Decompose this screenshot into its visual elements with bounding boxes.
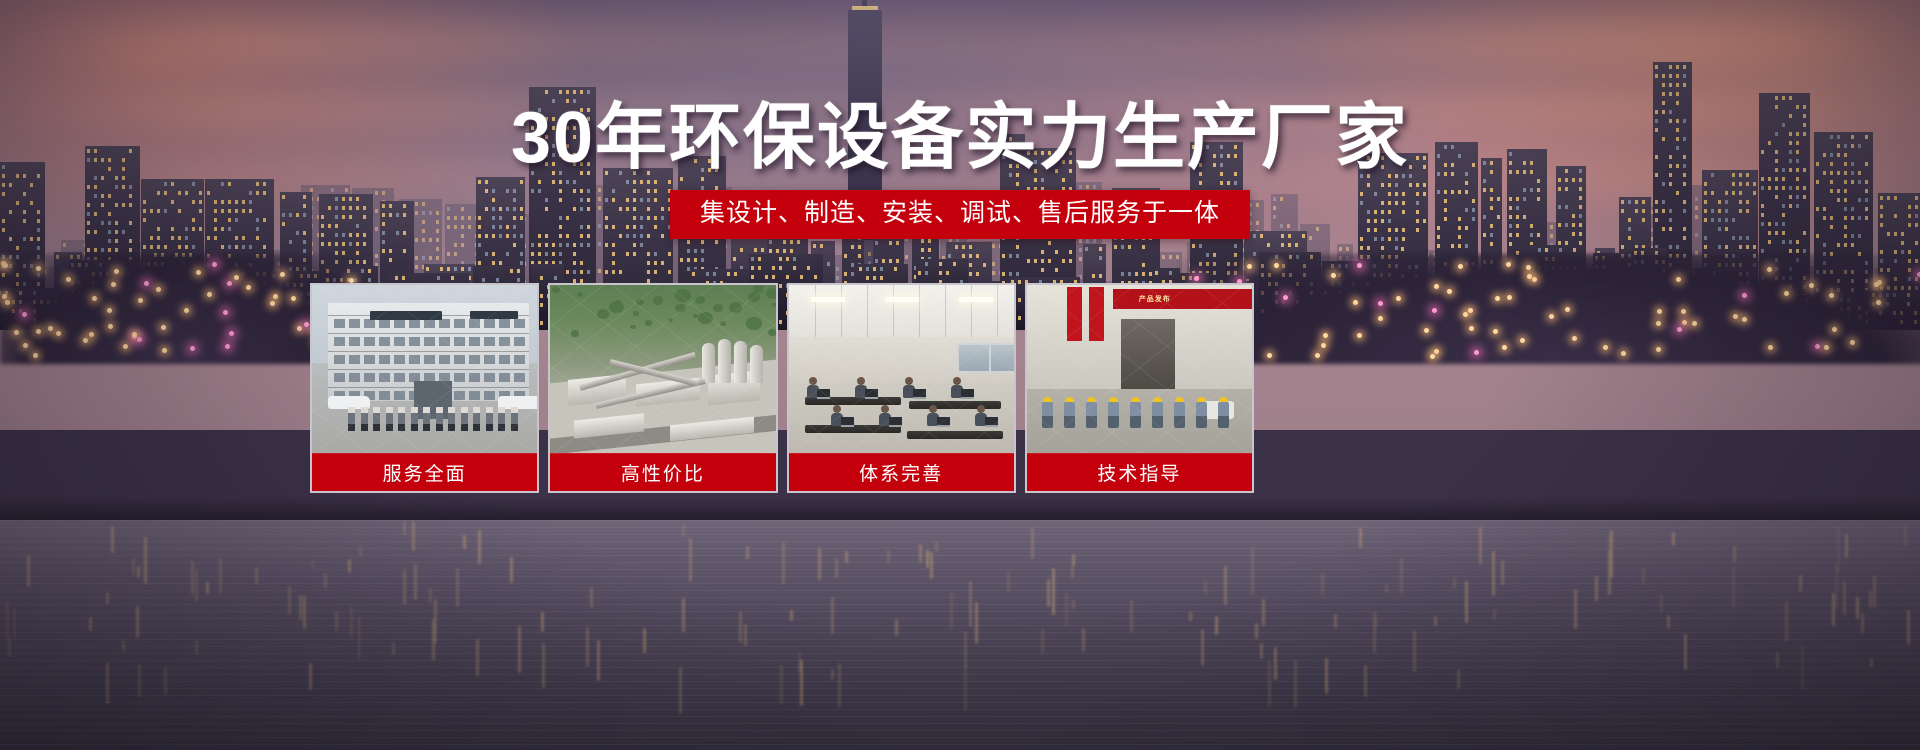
subtitle-container: 集设计、制造、安装、调试、售后服务于一体 (0, 190, 1920, 239)
building-window (587, 243, 590, 247)
building-window (115, 176, 118, 180)
building-window (772, 275, 775, 279)
street-lamp (1784, 291, 1789, 296)
building-window (633, 243, 636, 247)
building-window (368, 278, 371, 282)
shoreline (0, 496, 1920, 522)
feature-card[interactable]: 体系完善 (787, 283, 1016, 493)
building-window (478, 243, 481, 247)
building-window (654, 252, 657, 256)
building-window (1483, 179, 1486, 183)
building-window (517, 278, 520, 282)
building-window (925, 271, 928, 275)
building-window (769, 240, 772, 244)
water-reflection (780, 665, 783, 703)
building-window (859, 267, 862, 271)
water-reflection (1610, 530, 1613, 577)
street-lamp (1526, 265, 1531, 270)
building-window (598, 242, 601, 246)
building-window (263, 245, 266, 249)
building-window (9, 183, 12, 187)
building-window (545, 90, 548, 94)
building-window (687, 240, 690, 244)
building-window (440, 267, 443, 271)
street-lamp (291, 296, 296, 301)
building-window (587, 90, 590, 94)
water-reflection (1799, 575, 1802, 592)
building-window (228, 245, 231, 249)
building-window (1768, 177, 1771, 181)
water-reflection (969, 581, 972, 627)
building-window (389, 258, 392, 262)
building-window (619, 270, 622, 274)
street-lamp (1815, 344, 1820, 349)
water-reflection (1492, 551, 1495, 596)
building-window (520, 252, 523, 256)
building-window (858, 245, 861, 249)
water-reflection (136, 606, 139, 638)
building-window (858, 254, 861, 258)
street-lamp (1829, 293, 1834, 298)
street-lamp (1447, 289, 1452, 294)
water-reflection (311, 560, 314, 569)
street-lamp (1677, 327, 1682, 332)
building-window (1901, 241, 1904, 245)
building-window (1545, 248, 1548, 252)
building-window (375, 254, 378, 258)
building-window (16, 246, 19, 250)
building-window (758, 266, 761, 270)
water-reflection (1071, 565, 1074, 578)
building-window (1683, 65, 1686, 69)
building-window (836, 276, 839, 280)
building-window (363, 242, 366, 246)
watermark-overlay (1027, 285, 1252, 453)
water-reflection (132, 558, 135, 575)
building-window (356, 242, 359, 246)
building-window (1823, 243, 1826, 247)
building-window (1775, 177, 1778, 181)
water-reflection (1268, 661, 1271, 707)
water-reflection (1672, 532, 1675, 546)
building-window (633, 180, 636, 184)
feature-card[interactable]: 产品发布 技术指导 (1025, 283, 1254, 493)
water-reflection (1869, 591, 1872, 608)
building-window (171, 182, 174, 186)
building-window (531, 252, 534, 256)
building-window (896, 241, 899, 245)
building-window (1746, 245, 1749, 249)
building-window (415, 256, 418, 260)
water-reflection (219, 558, 222, 593)
water-reflection (518, 626, 521, 674)
building-window (349, 242, 352, 246)
water-reflection (1072, 554, 1075, 566)
building-window (992, 271, 995, 275)
building-window (1092, 274, 1095, 278)
building-window (321, 242, 324, 246)
building-window (647, 180, 650, 184)
building-window (889, 241, 892, 245)
water-reflection (324, 573, 327, 588)
building-window (580, 90, 583, 94)
building-window (1739, 245, 1742, 249)
card-photo (312, 285, 537, 453)
building-window (647, 252, 650, 256)
street-lamp (92, 296, 97, 301)
building-window (94, 176, 97, 180)
building-window (1704, 245, 1707, 249)
water-reflection (434, 599, 437, 644)
building-window (1093, 239, 1096, 243)
building-window (790, 249, 793, 253)
water-reflection (111, 526, 114, 554)
building-window (875, 259, 878, 263)
water-reflection (1260, 643, 1263, 659)
building-window (1676, 65, 1679, 69)
building-window (478, 261, 481, 265)
street-lamp (1493, 329, 1498, 334)
water-reflection (1642, 567, 1645, 585)
building-window (626, 252, 629, 256)
building-window (559, 90, 562, 94)
street-lamp (246, 285, 251, 290)
page-title: 30年环保设备实力生产厂家 (0, 102, 1920, 174)
water-reflection (191, 561, 194, 594)
water-reflection (13, 608, 16, 639)
building-window (566, 270, 569, 274)
water-reflection (456, 568, 459, 607)
building-window (1816, 180, 1819, 184)
building-window (962, 245, 965, 249)
water-reflection (359, 546, 362, 556)
building-window (1796, 177, 1799, 181)
water-reflection (412, 521, 415, 551)
building-window (793, 257, 796, 261)
building-window (776, 249, 779, 253)
building-window (946, 271, 949, 275)
water-reflection (1204, 581, 1207, 594)
building-window (1099, 247, 1102, 251)
building-window (454, 243, 457, 247)
building-window (1009, 254, 1012, 258)
building-window (1288, 243, 1291, 247)
building-window (552, 180, 555, 184)
street-lamp (132, 332, 137, 337)
building-window (661, 261, 664, 265)
water-reflection (1667, 615, 1670, 629)
building-window (1062, 259, 1065, 263)
water-reflection (798, 653, 801, 673)
building-window (1128, 245, 1131, 249)
water-reflection (964, 665, 967, 711)
feature-card[interactable]: 服务全面 (310, 283, 539, 493)
building-window (1775, 96, 1778, 100)
water-reflection (1041, 629, 1044, 654)
building-window (612, 270, 615, 274)
water-reflection (800, 660, 803, 705)
building-window (573, 243, 576, 247)
building-window (1085, 247, 1088, 251)
building-window (426, 267, 429, 271)
building-window (851, 272, 854, 276)
building-window (256, 182, 259, 186)
building-window (1169, 255, 1172, 259)
water-reflection (1465, 581, 1468, 622)
building-window (844, 272, 847, 276)
building-window (1381, 183, 1384, 187)
water-reflection (689, 538, 692, 582)
building-window (640, 180, 643, 184)
building-window (1490, 242, 1493, 246)
building-window (1662, 83, 1665, 87)
street-lamp (1520, 338, 1525, 343)
building-window (1176, 255, 1179, 259)
building-window (598, 269, 601, 273)
water-reflection (1201, 629, 1204, 666)
building-window (955, 245, 958, 249)
building-window (192, 182, 195, 186)
building-window (1725, 245, 1728, 249)
watermark-overlay (550, 285, 775, 453)
water-reflection (335, 611, 338, 631)
building-window (694, 249, 697, 253)
water-reflection (1595, 576, 1598, 601)
building-window (880, 276, 883, 280)
building-window (654, 261, 657, 265)
water-reflection (1608, 550, 1611, 595)
building-window (1559, 248, 1562, 252)
building-window (403, 249, 406, 253)
building-window (948, 254, 951, 258)
street-lamp (1656, 321, 1661, 326)
building-window (1367, 183, 1370, 187)
water-reflection (1904, 524, 1907, 546)
building-window (63, 243, 66, 247)
street-lamp (229, 331, 234, 336)
street-lamp (1507, 295, 1512, 300)
water-reflection (930, 552, 933, 578)
building-window (1416, 183, 1419, 187)
building-window (1062, 178, 1065, 182)
building-window (1086, 239, 1089, 243)
water-reflection (1785, 601, 1788, 641)
building-window (1016, 254, 1019, 258)
building-window (1451, 244, 1454, 248)
water-reflection (926, 550, 929, 568)
water-reflection (1501, 560, 1504, 584)
building-window (1199, 244, 1202, 248)
building-window (889, 259, 892, 263)
building-window (1367, 246, 1370, 250)
building-window (715, 240, 718, 244)
building-window (1395, 183, 1398, 187)
building-window (573, 90, 576, 94)
water-reflection (590, 587, 593, 608)
building-window (939, 262, 942, 266)
water-reflection (1294, 660, 1297, 708)
water-reflection (1574, 589, 1577, 629)
water-reflection (463, 535, 466, 549)
street-lamp (1532, 277, 1537, 282)
street-lamp (196, 270, 201, 275)
water-reflection (1434, 616, 1437, 626)
building-window (1055, 268, 1058, 272)
street-lamp (1692, 321, 1697, 326)
water-reflection (1400, 558, 1403, 594)
building-window (1732, 182, 1735, 186)
building-window (573, 252, 576, 256)
river-water (0, 520, 1920, 750)
building-window (1676, 245, 1679, 249)
water-reflection (1870, 658, 1873, 667)
street-lamp (1657, 309, 1662, 314)
building-window (1572, 178, 1575, 182)
building-window (1803, 249, 1806, 253)
building-window (969, 254, 972, 258)
building-window (928, 248, 931, 252)
building-window (1753, 245, 1756, 249)
water-reflection (1052, 568, 1055, 615)
building-window (820, 244, 823, 248)
building-window (800, 275, 803, 279)
building-window (1155, 271, 1158, 275)
card-caption: 体系完善 (789, 453, 1014, 491)
feature-card[interactable]: 高性价比 (548, 283, 777, 493)
building-window (1381, 246, 1384, 250)
building-window (1009, 272, 1012, 276)
building-window (1048, 241, 1051, 245)
building-window (415, 265, 418, 269)
water-reflection (1479, 527, 1482, 564)
water-reflection (682, 598, 685, 633)
building-window (1099, 256, 1102, 260)
building-window (249, 245, 252, 249)
water-reflection (586, 627, 589, 668)
building-window (1509, 242, 1512, 246)
building-window (303, 240, 306, 244)
building-window (580, 261, 583, 265)
building-window (538, 243, 541, 247)
building-window (531, 243, 534, 247)
building-window (1573, 248, 1576, 252)
water-reflection (597, 640, 600, 680)
feature-card-list: 服务全面 高性价比 体系完善 产品发布 (310, 283, 1254, 493)
water-reflection (1845, 534, 1848, 558)
building-window (1565, 178, 1568, 182)
building-window (94, 248, 97, 252)
water-reflection (1660, 595, 1663, 613)
building-window (1192, 244, 1195, 248)
building-window (626, 180, 629, 184)
building-window (492, 252, 495, 256)
building-window (1465, 181, 1468, 185)
building-window (701, 258, 704, 262)
building-window (573, 270, 576, 274)
building-window (733, 257, 736, 261)
building-window (765, 275, 768, 279)
building-window (1267, 243, 1270, 247)
subtitle-badge: 集设计、制造、安装、调试、售后服务于一体 (670, 190, 1250, 239)
building-window (115, 248, 118, 252)
water-reflection (303, 596, 306, 628)
building-window (1669, 245, 1672, 249)
building-window (328, 242, 331, 246)
building-window (552, 243, 555, 247)
building-window (1002, 254, 1005, 258)
building-window (382, 240, 385, 244)
building-window (1339, 247, 1342, 251)
building-window (1746, 182, 1749, 186)
building-window (1782, 240, 1785, 244)
building-window (1669, 74, 1672, 78)
water-reflection (1072, 600, 1075, 609)
water-reflection (838, 663, 841, 707)
building-window (1537, 179, 1540, 183)
water-reflection (1413, 630, 1416, 671)
building-window (905, 255, 908, 259)
building-window (115, 239, 118, 243)
building-window (1796, 249, 1799, 253)
building-window (1669, 92, 1672, 96)
building-window (389, 249, 392, 253)
street-lamp (1682, 320, 1687, 325)
street-lamp (1353, 300, 1358, 305)
building-window (461, 243, 464, 247)
building-window (122, 176, 125, 180)
building-window (1016, 272, 1019, 276)
water-reflection (1215, 616, 1218, 634)
building-window (751, 266, 754, 270)
building-window (1409, 174, 1412, 178)
building-window (580, 270, 583, 274)
building-window (692, 272, 695, 276)
building-window (478, 180, 481, 184)
street-lamp (1876, 300, 1881, 305)
building-window (1093, 185, 1096, 189)
building-window (510, 269, 513, 273)
building-window (1830, 180, 1833, 184)
building-window (687, 249, 690, 253)
building-window (1041, 268, 1044, 272)
watermark-overlay (312, 285, 537, 453)
street-lamp (89, 332, 94, 337)
building-window (866, 276, 869, 280)
water-reflection (835, 558, 838, 578)
building-window (1142, 263, 1145, 267)
building-window (1676, 83, 1679, 87)
street-lamp (162, 348, 167, 353)
street-lamp (1676, 277, 1681, 282)
building-window (918, 271, 921, 275)
water-reflection (1801, 646, 1804, 690)
water-reflection (403, 570, 406, 605)
street-lamp (1572, 336, 1577, 341)
building-window (814, 275, 817, 279)
water-reflection (1251, 547, 1254, 595)
building-window (868, 252, 871, 256)
building-window (1016, 245, 1019, 249)
building-window (1027, 259, 1030, 263)
building-window (485, 252, 488, 256)
building-window (303, 249, 306, 253)
building-window (30, 183, 33, 187)
building-window (87, 248, 90, 252)
water-reflection (1732, 566, 1735, 608)
street-lamp (107, 308, 112, 313)
water-reflection (744, 624, 747, 646)
building-window (1858, 180, 1861, 184)
